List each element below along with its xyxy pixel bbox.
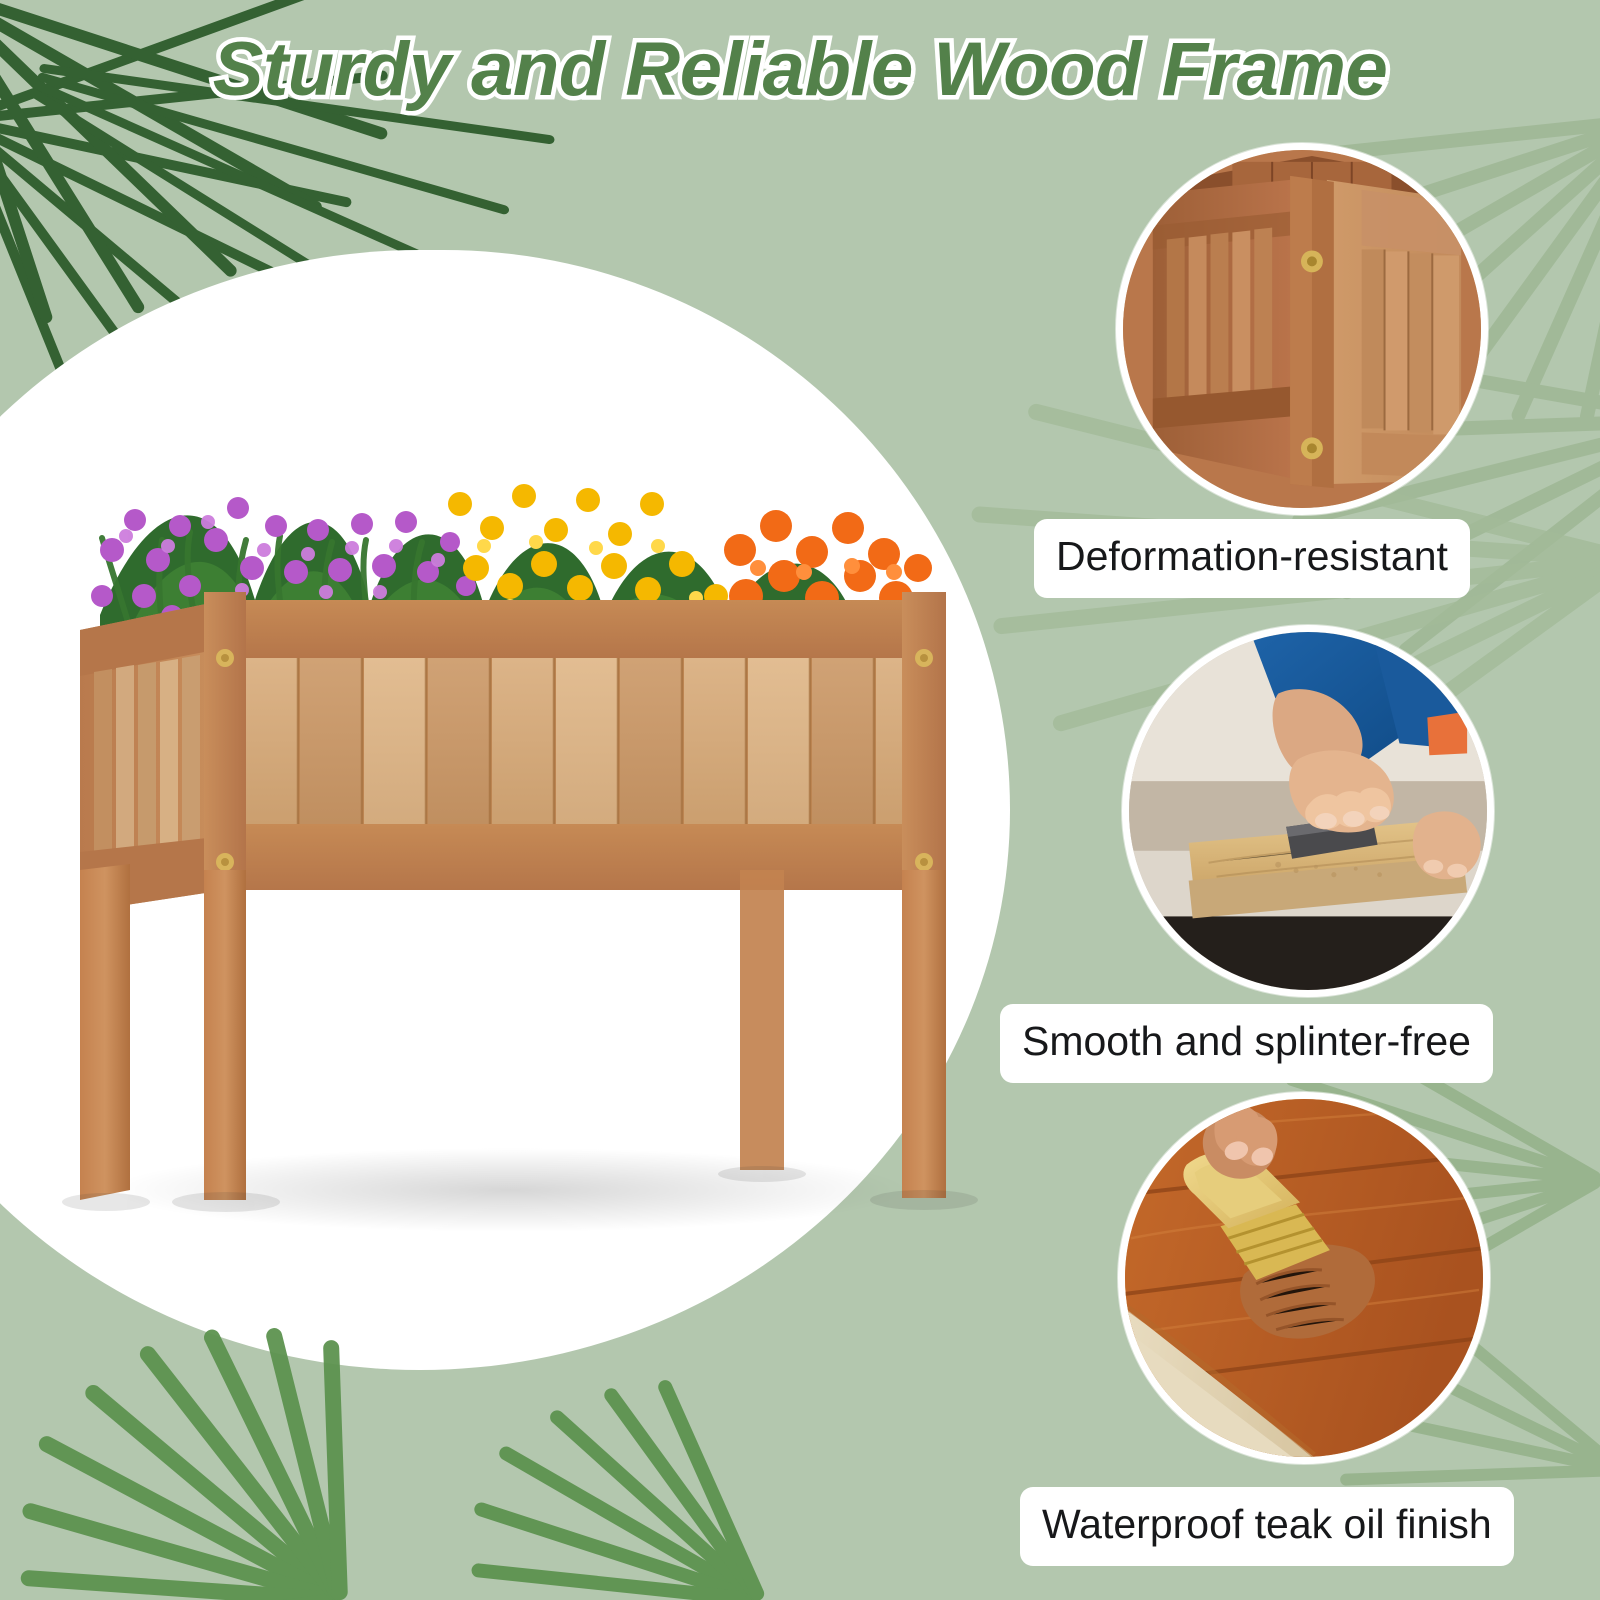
feature-image-deformation-resistant (1116, 143, 1488, 515)
feature-caption-smooth-splinter-free: Smooth and splinter-free (1000, 1004, 1493, 1083)
feature-caption-waterproof-teak-oil: Waterproof teak oil finish (1020, 1487, 1514, 1566)
feature-image-waterproof-teak-oil (1118, 1092, 1490, 1464)
feature-caption-deformation-resistant: Deformation-resistant (1034, 519, 1470, 598)
oil-brush-icon (1125, 1099, 1483, 1457)
page-title: Sturdy and Reliable Wood Frame (0, 26, 1600, 113)
sanding-hand-icon (1129, 632, 1487, 990)
palm-frond-bottom-left (20, 1326, 766, 1600)
poster-canvas: Sturdy and Reliable Wood Frame (0, 0, 1600, 1600)
wood-corner-icon (1123, 150, 1481, 508)
feature-image-smooth-splinter-free (1122, 625, 1494, 997)
